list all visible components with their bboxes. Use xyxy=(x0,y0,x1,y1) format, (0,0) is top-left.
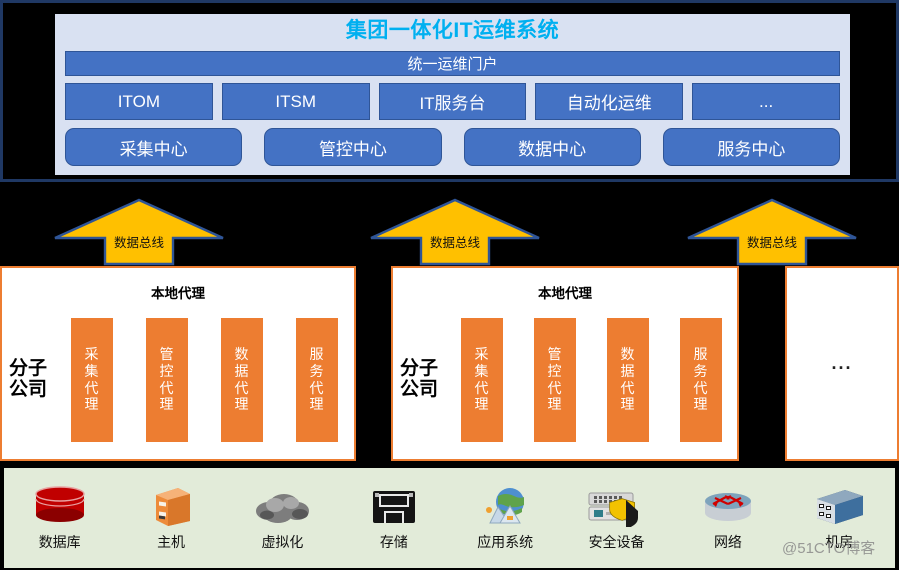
branch-company-more[interactable]: ... xyxy=(785,266,899,461)
resource-strip: 数据库 主机 xyxy=(4,468,895,568)
resource-network[interactable]: 网络 xyxy=(672,485,783,552)
up-arrow-icon xyxy=(369,198,541,266)
center-collection[interactable]: 采集中心 xyxy=(65,128,242,166)
platform-frame: 集团一体化IT运维系统 统一运维门户 ITOM ITSM IT服务台 自动化运维… xyxy=(0,0,899,182)
resource-label: 存储 xyxy=(380,532,408,552)
center-service[interactable]: 服务中心 xyxy=(663,128,840,166)
storage-disk-icon xyxy=(370,485,418,527)
host-server-icon xyxy=(148,485,194,527)
module-itom[interactable]: ITOM xyxy=(65,83,213,120)
branch-inner: 分子公司 采集代理 管控代理 数据代理 服务代理 xyxy=(2,310,354,449)
platform-panel: 集团一体化IT运维系统 统一运维门户 ITOM ITSM IT服务台 自动化运维… xyxy=(55,14,850,175)
resource-storage[interactable]: 存储 xyxy=(338,485,449,552)
agent-control[interactable]: 管控代理 xyxy=(534,318,576,442)
cloud-icon xyxy=(251,485,313,527)
datacenter-rack-icon xyxy=(811,485,867,527)
center-control[interactable]: 管控中心 xyxy=(264,128,441,166)
agent-data[interactable]: 数据代理 xyxy=(607,318,649,442)
branch-company-1[interactable]: 本地代理 分子公司 采集代理 管控代理 数据代理 服务代理 xyxy=(0,266,356,461)
module-it-service-desk[interactable]: IT服务台 xyxy=(379,83,527,120)
subsidiary-label: 分子公司 xyxy=(393,359,445,399)
module-more[interactable]: ... xyxy=(692,83,840,120)
agent-list: 采集代理 管控代理 数据代理 服务代理 xyxy=(445,310,737,449)
database-icon xyxy=(30,485,90,527)
up-arrow-icon xyxy=(53,198,225,266)
center-data[interactable]: 数据中心 xyxy=(464,128,641,166)
agent-control[interactable]: 管控代理 xyxy=(146,318,188,442)
up-arrow-icon xyxy=(686,198,858,266)
local-agent-header: 本地代理 xyxy=(2,282,354,300)
branch-inner: 分子公司 采集代理 管控代理 数据代理 服务代理 xyxy=(393,310,737,449)
center-row: 采集中心 管控中心 数据中心 服务中心 xyxy=(65,128,840,166)
resource-database[interactable]: 数据库 xyxy=(4,485,115,552)
resource-label: 机房 xyxy=(825,532,853,552)
branch-company-2[interactable]: 本地代理 分子公司 采集代理 管控代理 数据代理 服务代理 xyxy=(391,266,739,461)
branch-row: 本地代理 分子公司 采集代理 管控代理 数据代理 服务代理 本地代理 分子公司 … xyxy=(0,266,899,461)
application-globe-icon xyxy=(478,485,532,527)
resource-label: 主机 xyxy=(157,532,185,552)
agent-collection[interactable]: 采集代理 xyxy=(461,318,503,442)
unified-ops-portal-bar[interactable]: 统一运维门户 xyxy=(65,51,840,76)
data-bus-arrow-3: 数据总线 xyxy=(686,198,858,266)
module-row: ITOM ITSM IT服务台 自动化运维 ... xyxy=(65,83,840,120)
security-shield-icon xyxy=(586,485,648,527)
page-title: 集团一体化IT运维系统 xyxy=(55,14,850,48)
resource-application[interactable]: 应用系统 xyxy=(450,485,561,552)
resource-label: 安全设备 xyxy=(589,532,645,552)
resource-label: 数据库 xyxy=(39,532,81,552)
resource-security-device[interactable]: 安全设备 xyxy=(561,485,672,552)
branch-ellipsis: ... xyxy=(787,268,897,459)
agent-service[interactable]: 服务代理 xyxy=(680,318,722,442)
subsidiary-label: 分子公司 xyxy=(2,359,54,399)
agent-service[interactable]: 服务代理 xyxy=(296,318,338,442)
resource-datacenter[interactable]: 机房 xyxy=(784,485,895,552)
data-bus-arrow-1: 数据总线 xyxy=(53,198,225,266)
local-agent-header: 本地代理 xyxy=(393,282,737,300)
agent-data[interactable]: 数据代理 xyxy=(221,318,263,442)
module-automation-ops[interactable]: 自动化运维 xyxy=(535,83,683,120)
resource-label: 网络 xyxy=(714,532,742,552)
agent-list: 采集代理 管控代理 数据代理 服务代理 xyxy=(54,310,354,449)
resource-label: 应用系统 xyxy=(477,532,533,552)
data-bus-arrow-2: 数据总线 xyxy=(369,198,541,266)
resource-virtualization[interactable]: 虚拟化 xyxy=(227,485,338,552)
network-router-icon xyxy=(700,485,756,527)
agent-collection[interactable]: 采集代理 xyxy=(71,318,113,442)
module-itsm[interactable]: ITSM xyxy=(222,83,370,120)
resource-host[interactable]: 主机 xyxy=(115,485,226,552)
resource-label: 虚拟化 xyxy=(261,532,303,552)
